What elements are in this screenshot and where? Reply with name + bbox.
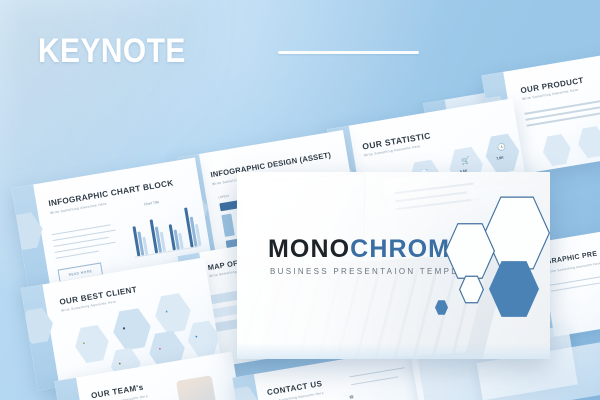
slide-card-hero-monochrome[interactable]: MONOCHROME BUSINESS PRESENTAION TEMPLATE <box>237 172 550 359</box>
hero-subtitle: BUSINESS PRESENTAION TEMPLATE <box>270 267 480 276</box>
stat-tile-4[interactable] <box>482 131 522 176</box>
client-logo-hexagon[interactable] <box>110 305 154 353</box>
text-line <box>52 224 111 235</box>
asset-block <box>221 214 234 237</box>
client-logo-hexagon[interactable] <box>72 323 112 366</box>
title-divider <box>278 51 419 54</box>
clock-icon: 🕓 <box>497 143 507 152</box>
team-member-photo <box>176 375 218 400</box>
phone-icon: ☎ <box>349 394 355 400</box>
page-title: KEYNOTE <box>38 33 186 69</box>
hero-bottom-band <box>237 343 550 359</box>
hero-title-mono: MONO <box>268 235 350 263</box>
asset-caption: LOREM <box>218 194 229 200</box>
client-logo-hexagon[interactable] <box>152 291 194 336</box>
read-more-label: READ MORE <box>68 269 92 277</box>
cart-icon: 🛒 <box>461 156 471 165</box>
text-line <box>351 376 399 385</box>
product-hexagon-1 <box>540 132 573 168</box>
poster-canvas: KEYNOTE OUR PRODUCT Write Something Awes… <box>0 0 600 400</box>
product-hexagon-2 <box>576 124 600 160</box>
slide-accent-strip <box>54 378 86 400</box>
client-logo-3: ▲ <box>164 308 169 314</box>
hero-title: MONOCHROME <box>268 235 468 264</box>
chart-title: Chart Title <box>144 200 160 206</box>
text-line <box>56 251 100 260</box>
